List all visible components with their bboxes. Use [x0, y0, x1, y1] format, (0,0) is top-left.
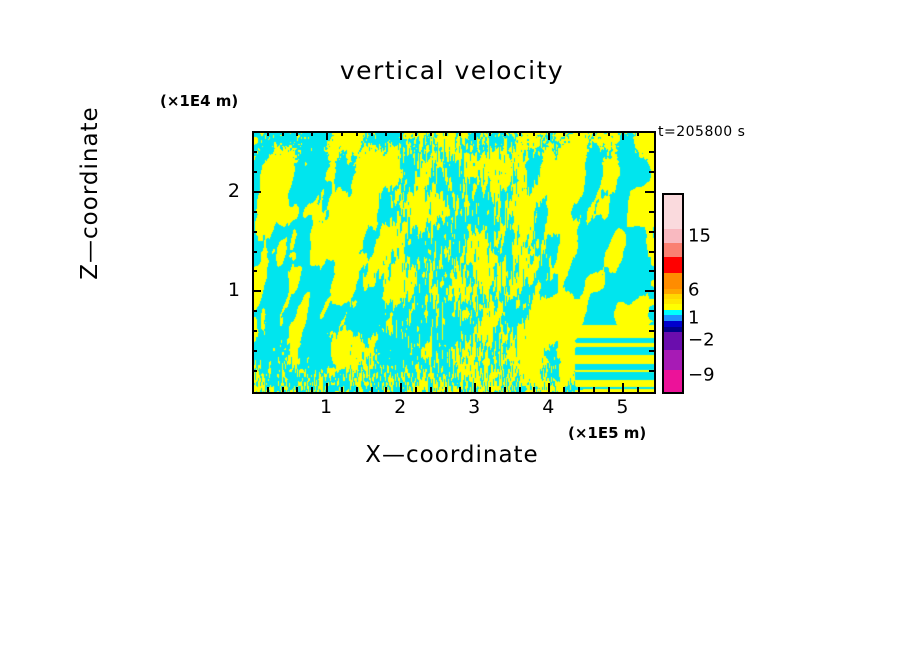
x-tick	[356, 387, 358, 392]
x-tick	[578, 131, 580, 136]
x-tick	[578, 387, 580, 392]
y-tick	[252, 191, 261, 193]
x-tick	[474, 131, 476, 140]
y-tick	[252, 211, 257, 213]
x-tick	[356, 131, 358, 136]
contour-plot-area	[252, 131, 656, 394]
x-tick-label: 4	[542, 396, 554, 418]
y-tick	[649, 270, 654, 272]
x-tick	[563, 131, 565, 136]
colorbar-tick-label: 15	[688, 226, 711, 247]
page-title: vertical velocity	[0, 56, 904, 85]
y-tick	[252, 251, 257, 253]
x-tick	[637, 387, 639, 392]
x-tick	[445, 387, 447, 392]
x-tick	[548, 131, 550, 140]
x-tick	[504, 387, 506, 392]
x-tick-label: 5	[616, 396, 628, 418]
y-tick	[252, 330, 257, 332]
x-axis-unit-label: (×1E5 m)	[568, 424, 646, 442]
y-tick	[649, 350, 654, 352]
y-tick	[649, 310, 654, 312]
x-tick	[608, 131, 610, 136]
colorbar-band	[664, 332, 682, 350]
y-axis-unit-label: (×1E4 m)	[160, 92, 238, 110]
y-tick	[252, 370, 257, 372]
x-tick	[400, 383, 402, 392]
x-tick	[593, 131, 595, 136]
x-tick	[385, 387, 387, 392]
x-tick	[311, 131, 313, 136]
x-tick	[489, 131, 491, 136]
x-tick	[637, 131, 639, 136]
x-tick	[296, 131, 298, 136]
x-tick	[608, 387, 610, 392]
x-tick	[415, 387, 417, 392]
y-axis-title: Z—coordinate	[77, 43, 103, 343]
y-tick	[252, 310, 257, 312]
colorbar-band	[664, 257, 682, 273]
x-tick	[385, 131, 387, 136]
y-tick	[645, 290, 654, 292]
colorbar-band	[664, 273, 682, 289]
x-tick	[445, 131, 447, 136]
colorbar	[662, 193, 684, 394]
x-tick	[504, 131, 506, 136]
y-tick	[649, 211, 654, 213]
x-tick	[326, 131, 328, 140]
y-tick	[252, 231, 257, 233]
x-tick-label: 1	[320, 396, 332, 418]
x-tick	[341, 131, 343, 136]
x-tick	[459, 387, 461, 392]
x-tick	[622, 383, 624, 392]
x-tick	[489, 387, 491, 392]
x-tick	[311, 387, 313, 392]
colorbar-band	[664, 350, 682, 370]
y-tick	[649, 231, 654, 233]
colorbar-tick-label: −2	[688, 330, 715, 351]
colorbar-band	[664, 370, 682, 392]
colorbar-band	[664, 243, 682, 257]
x-tick-label: 2	[394, 396, 406, 418]
x-tick	[371, 387, 373, 392]
x-tick	[622, 131, 624, 140]
y-tick	[252, 350, 257, 352]
x-tick	[519, 387, 521, 392]
x-tick	[267, 131, 269, 136]
x-tick	[282, 387, 284, 392]
y-tick	[649, 330, 654, 332]
time-annotation: t=205800 s	[658, 124, 745, 140]
colorbar-tick-label: −9	[688, 365, 715, 386]
x-tick	[267, 387, 269, 392]
x-tick	[563, 387, 565, 392]
x-tick	[459, 131, 461, 136]
x-tick	[326, 383, 328, 392]
colorbar-band	[664, 229, 682, 243]
y-tick	[649, 251, 654, 253]
y-tick-label: 1	[210, 279, 240, 301]
y-tick-label: 2	[210, 180, 240, 202]
x-tick	[296, 387, 298, 392]
velocity-field-canvas	[254, 133, 654, 392]
y-tick	[252, 171, 257, 173]
colorbar-tick-label: 1	[688, 308, 699, 329]
x-tick	[519, 131, 521, 136]
y-tick	[252, 151, 257, 153]
x-tick	[548, 383, 550, 392]
x-tick	[282, 131, 284, 136]
x-axis-title: X—coordinate	[0, 442, 904, 468]
y-tick	[252, 290, 261, 292]
x-tick	[371, 131, 373, 136]
y-tick	[649, 171, 654, 173]
colorbar-band	[664, 195, 682, 229]
x-tick	[341, 387, 343, 392]
x-tick	[533, 387, 535, 392]
y-tick	[252, 270, 257, 272]
x-tick	[593, 387, 595, 392]
x-tick	[533, 131, 535, 136]
x-tick-label: 3	[468, 396, 480, 418]
y-tick	[649, 370, 654, 372]
x-tick	[474, 383, 476, 392]
x-tick	[400, 131, 402, 140]
y-tick	[645, 191, 654, 193]
x-tick	[430, 131, 432, 136]
x-tick	[415, 131, 417, 136]
colorbar-tick-label: 6	[688, 280, 699, 301]
y-tick	[649, 151, 654, 153]
x-tick	[430, 387, 432, 392]
